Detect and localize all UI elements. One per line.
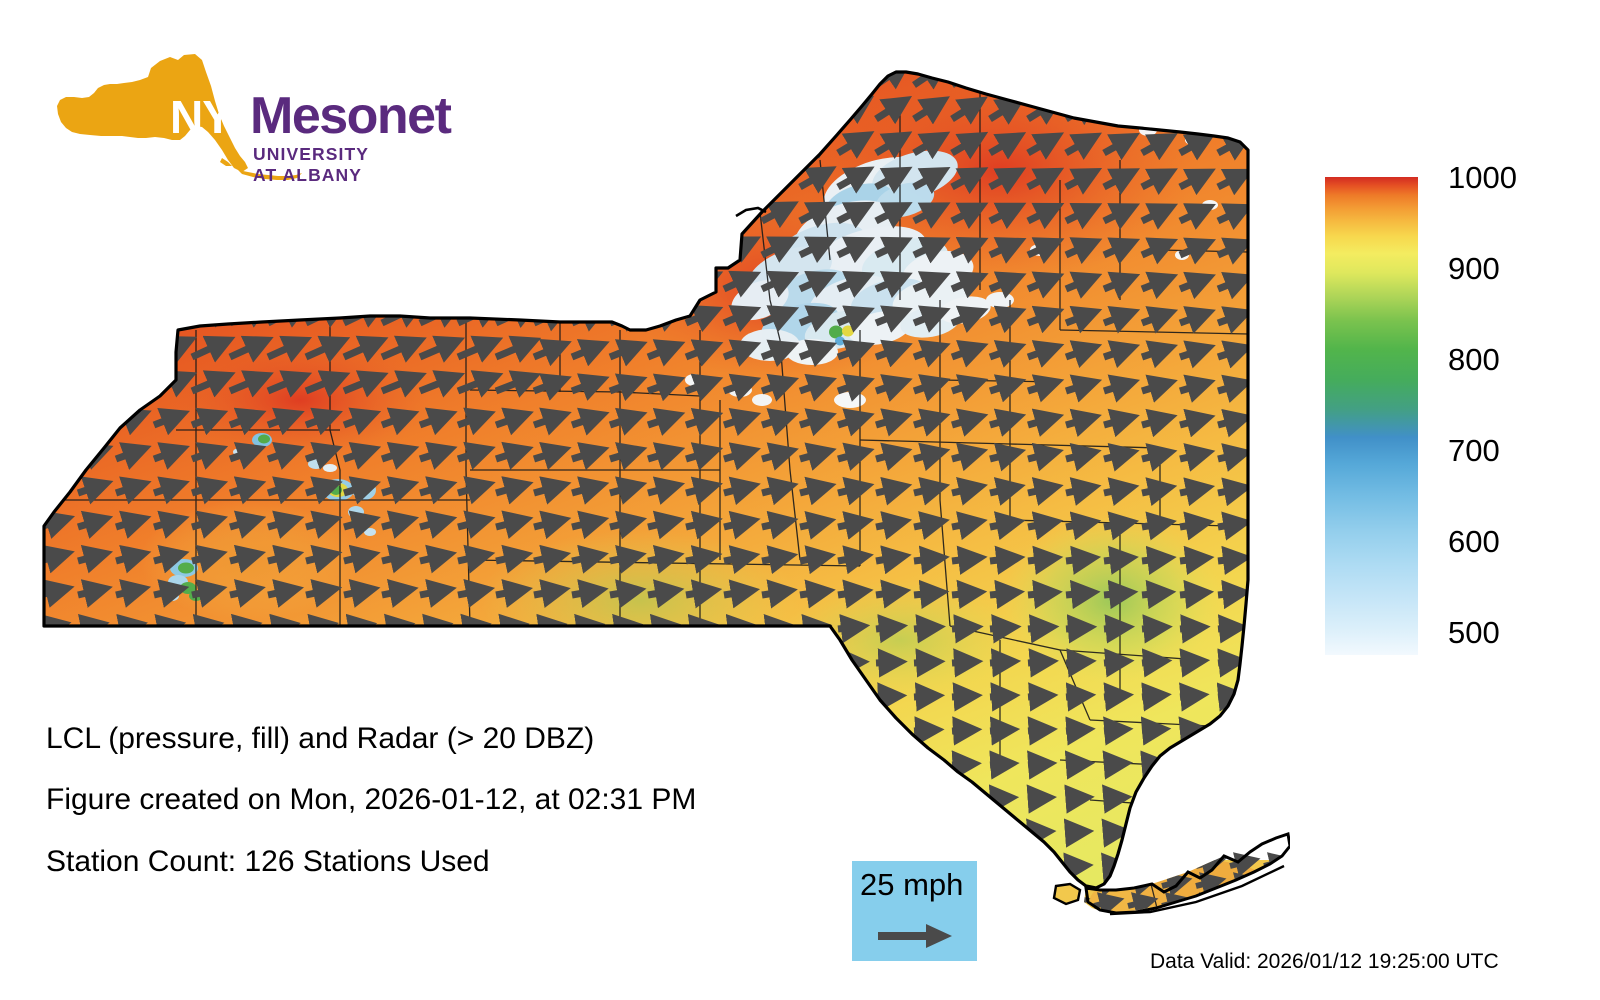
wind-arrow <box>1066 69 1090 85</box>
wind-arrow <box>990 764 1006 765</box>
wind-arrow <box>800 798 817 799</box>
wind-arrow <box>1142 696 1159 698</box>
wind-arrow <box>192 131 223 153</box>
wind-arrow <box>1256 661 1273 663</box>
wind-arrow <box>724 67 749 85</box>
wind-arrow <box>268 131 299 153</box>
wind-arrow <box>1104 69 1128 85</box>
wind-arrow <box>1066 730 1083 731</box>
wind-arrow <box>952 730 969 731</box>
wind-arrow <box>306 61 337 85</box>
wind-arrow <box>154 272 185 289</box>
caption-station-count: Station Count: 126 Stations Used <box>46 845 490 879</box>
wind-arrow <box>838 798 855 799</box>
wind-arrow <box>154 202 185 221</box>
wind-arrow <box>876 592 898 595</box>
wind-arrow <box>914 764 931 765</box>
wind-arrow <box>230 131 261 153</box>
wind-arrow <box>420 167 452 187</box>
wind-arrow <box>382 132 414 154</box>
wind-arrow <box>1180 105 1204 119</box>
wind-arrow <box>344 202 376 221</box>
wind-arrow <box>154 307 185 323</box>
data-valid-timestamp: Data Valid: 2026/01/12 19:25:00 UTC <box>1150 950 1499 974</box>
wind-arrow <box>686 172 711 187</box>
wind-arrow <box>306 765 324 766</box>
wind-arrow <box>116 131 146 153</box>
wind-arrow <box>1256 210 1280 221</box>
wind-arrow <box>230 202 261 221</box>
wind-arrow <box>306 697 325 698</box>
wind-arrow <box>306 167 338 187</box>
wind-arrow <box>724 591 747 595</box>
wind-arrow <box>1104 104 1128 119</box>
wind-arrow <box>572 277 598 289</box>
wind-arrow <box>876 832 892 833</box>
wind-arrow <box>192 167 223 188</box>
wind-arrow <box>78 272 109 289</box>
wind-arrow <box>800 522 823 527</box>
wind-arrow <box>610 67 635 85</box>
wind-arrow <box>914 558 937 561</box>
wind-arrow <box>1142 798 1157 799</box>
wind-arrow <box>952 696 970 697</box>
wind-arrow <box>990 628 1008 630</box>
wind-arrow <box>268 833 285 834</box>
wind-arrow <box>230 833 247 834</box>
wind-arrow <box>1142 488 1164 493</box>
wind-arrow <box>1104 488 1126 493</box>
wind-arrow <box>344 96 375 119</box>
wind-arrow <box>40 272 70 289</box>
wind-arrow <box>1142 628 1160 629</box>
wind-arrow <box>420 61 452 85</box>
wind-arrow <box>724 663 743 664</box>
wind-arrow <box>724 557 747 562</box>
wind-arrow <box>1142 523 1164 527</box>
wind-arrow <box>724 799 741 800</box>
wind-arrow <box>1256 140 1280 153</box>
wind-arrow <box>724 102 749 119</box>
wind-arrow <box>344 833 361 834</box>
wind-arrow <box>572 66 597 85</box>
wind-arrow <box>952 628 971 630</box>
wind-arrow <box>116 167 146 188</box>
wind-arrow <box>78 237 109 255</box>
wind-arrow <box>420 237 453 255</box>
wind-arrow <box>610 242 636 255</box>
wind-arrow <box>268 697 287 698</box>
wind-arrow <box>648 67 673 85</box>
wind-arrow <box>610 277 636 289</box>
wind-arrow <box>952 798 968 799</box>
wind-arrow <box>116 697 134 698</box>
wind-arrow <box>1066 593 1087 595</box>
wind-arrow <box>420 202 453 221</box>
wind-arrow <box>914 798 930 799</box>
wind-arrow <box>838 68 863 85</box>
wind-arrow <box>1180 489 1202 493</box>
wind-arrow <box>306 237 338 255</box>
wind-arrow <box>1142 70 1166 85</box>
wind-arrow <box>1180 730 1196 732</box>
wind-arrow <box>990 558 1012 561</box>
wind-arrow <box>268 167 299 187</box>
wind-arrow <box>762 696 781 697</box>
wind-arrow <box>1104 730 1120 731</box>
wind-arrow <box>1230 901 1249 906</box>
wind-arrow <box>800 866 816 867</box>
wind-arrow <box>876 730 894 731</box>
staten-island-outline <box>1054 884 1080 904</box>
wind-arrow <box>1066 832 1081 833</box>
wind-arrow <box>1066 764 1082 765</box>
wind-arrow <box>1256 593 1277 595</box>
wind-arrow <box>192 663 211 664</box>
wind-arrow <box>1066 558 1088 561</box>
wind-arrow <box>78 765 95 766</box>
wind-arrow <box>344 590 367 595</box>
wind-arrow <box>1028 696 1045 697</box>
wind-arrow <box>1028 488 1051 493</box>
wind-arrow <box>724 697 743 698</box>
wind-arrow <box>952 593 974 595</box>
wind-arrow <box>610 207 636 221</box>
wind-arrow <box>1028 558 1050 561</box>
wind-arrow <box>116 765 133 766</box>
wind-arrow <box>1180 661 1197 663</box>
wind-arrow <box>1256 628 1273 629</box>
wind-arrow <box>1218 730 1234 732</box>
colorbar-tick-500: 500 <box>1448 617 1500 648</box>
wind-arrow <box>268 202 300 221</box>
wind-arrow <box>534 136 560 153</box>
wind-arrow <box>724 172 749 187</box>
wind-arrow <box>1028 593 1050 595</box>
wind-arrow <box>78 833 94 834</box>
wind-arrow <box>40 485 63 493</box>
wind-arrow <box>154 590 176 595</box>
wind-arrow <box>78 61 107 85</box>
wind-arrow <box>192 272 223 289</box>
wind-arrow <box>78 131 108 153</box>
wind-arrow <box>40 377 70 391</box>
wind-arrow <box>800 730 818 731</box>
wind-arrow <box>572 102 598 120</box>
wind-arrow <box>610 556 634 561</box>
wind-arrow <box>40 307 70 323</box>
wind-arrow <box>382 61 413 85</box>
wind-arrow <box>382 202 414 221</box>
wind-arrow <box>838 627 857 629</box>
wind-arrow <box>762 68 787 86</box>
wind-arrow <box>952 832 968 833</box>
wind-arrow <box>724 765 742 766</box>
wind-arrow <box>192 697 211 698</box>
wind-arrow <box>1180 696 1196 698</box>
wind-arrow <box>800 103 825 119</box>
wind-arrow <box>420 132 452 154</box>
wind-arrow <box>762 103 787 120</box>
wind-arrow <box>1142 559 1164 562</box>
wind-arrow <box>116 307 147 323</box>
wind-arrow <box>78 378 109 392</box>
wind-arrow <box>1256 350 1279 357</box>
wind-arrow <box>192 765 210 766</box>
wind-arrow <box>952 764 969 765</box>
wind-arrow <box>1142 593 1163 595</box>
wind-arrow <box>458 273 491 290</box>
wind-arrow <box>1256 384 1279 391</box>
wind-arrow <box>230 272 262 289</box>
caption-created-time: Figure created on Mon, 2026-01-12, at 02… <box>46 783 696 817</box>
wind-arrow <box>572 207 598 221</box>
wind-arrow <box>1128 861 1147 866</box>
wind-arrow <box>648 556 672 561</box>
wind-arrow <box>1180 866 1194 867</box>
wind-arrow <box>230 663 249 664</box>
wind-arrow <box>1142 662 1159 664</box>
wind-arrow <box>496 591 520 596</box>
wind-arrow <box>1218 628 1235 629</box>
wind-arrow <box>496 61 528 85</box>
wind-arrow <box>686 67 711 85</box>
wind-arrow <box>230 237 262 255</box>
wind-arrow <box>572 172 598 187</box>
wind-arrow <box>762 173 787 187</box>
wind-arrow <box>1142 105 1166 119</box>
wind-arrow <box>382 167 414 187</box>
wind-arrow <box>648 277 673 289</box>
wind-arrow <box>268 590 291 595</box>
wind-arrow <box>1066 523 1088 527</box>
wind-arrow <box>154 131 184 153</box>
wind-arrow <box>1028 866 1043 867</box>
wind-arrow <box>1028 764 1044 765</box>
wind-arrow <box>116 833 132 834</box>
wind-arrow <box>800 696 818 697</box>
wind-arrow <box>534 206 560 221</box>
wind-arrow <box>648 102 673 119</box>
wind-arrow <box>268 61 299 85</box>
wind-arrow <box>78 342 109 357</box>
wind-arrow <box>1256 245 1280 255</box>
wind-arrow <box>990 662 1008 663</box>
wind-arrow <box>40 96 69 119</box>
wind-arrow <box>1218 105 1242 119</box>
wind-arrow <box>1256 70 1280 85</box>
wind-arrow <box>306 202 338 221</box>
wind-arrow <box>1104 593 1125 595</box>
wind-arrow <box>116 272 147 289</box>
wind-arrow <box>686 207 711 221</box>
wind-arrow <box>1218 523 1240 527</box>
wind-arrow <box>800 832 816 833</box>
wind-arrow <box>1142 866 1156 867</box>
wind-arrow <box>914 628 933 630</box>
colorbar-tick-1000: 1000 <box>1448 162 1517 193</box>
wind-arrow <box>1104 662 1121 663</box>
wind-arrow <box>1218 454 1240 459</box>
wind-arrow <box>1104 866 1118 867</box>
wind-arrow <box>154 765 171 766</box>
wind-arrow <box>230 765 248 766</box>
wind-arrow <box>990 593 1012 595</box>
wind-arrow <box>154 663 173 664</box>
wind-arrow <box>1256 832 1270 834</box>
wind-arrow <box>458 132 490 154</box>
wind-arrow <box>1256 315 1279 323</box>
wind-arrow <box>800 68 825 85</box>
wind-arrow <box>1162 861 1181 866</box>
wind-arrow <box>1142 832 1157 833</box>
wind-arrow <box>914 593 936 595</box>
wind-arrow <box>420 272 453 289</box>
wind-arrow <box>762 591 785 595</box>
wind-arrow <box>914 730 931 731</box>
wind-arrow <box>952 558 974 561</box>
wind-arrow <box>1256 489 1278 493</box>
wind-arrow <box>762 798 779 799</box>
wind-arrow <box>1256 798 1271 800</box>
wind-arrow <box>686 102 711 119</box>
wind-arrow <box>1264 901 1283 906</box>
wind-arrow <box>648 137 673 153</box>
wind-arrow <box>1256 559 1277 562</box>
wind-arrow <box>306 833 323 834</box>
wind-arrow <box>686 591 709 595</box>
wind-arrow <box>610 591 633 595</box>
wind-arrow <box>344 697 363 698</box>
wind-arrow <box>230 590 253 595</box>
wind-arrow <box>344 167 376 187</box>
wind-arrow <box>648 207 674 221</box>
wind-arrow <box>78 202 108 221</box>
wind-arrow <box>306 590 329 595</box>
wind-arrow <box>344 272 376 289</box>
wind-arrow <box>496 96 528 119</box>
wind-arrow <box>800 557 823 561</box>
wind-arrow <box>40 202 70 221</box>
wind-arrow <box>268 663 288 664</box>
wind-arrow <box>952 523 975 528</box>
wind-arrow <box>268 765 286 766</box>
wind-arrow <box>382 272 415 289</box>
wind-arrow <box>382 237 414 255</box>
wind-arrow <box>952 69 977 85</box>
wind-arrow <box>496 202 529 221</box>
wind-arrow <box>1256 175 1280 187</box>
wind-arrow <box>40 166 70 187</box>
wind-arrow <box>1218 764 1233 766</box>
wind-arrow <box>952 662 970 663</box>
wind-arrow <box>1218 559 1239 562</box>
wind-arrow <box>1218 832 1232 833</box>
wind-arrow <box>800 764 817 765</box>
wind-arrow <box>686 277 711 289</box>
wind-arrow <box>1066 662 1084 663</box>
wind-arrow <box>686 556 709 561</box>
wind-arrow <box>40 342 71 357</box>
wind-arrow <box>344 663 364 664</box>
wind-arrow <box>1180 764 1195 765</box>
wind-arrow <box>762 764 780 765</box>
wind-arrow <box>990 696 1007 697</box>
wind-key-label: 25 mph <box>860 867 963 903</box>
wind-arrow <box>40 450 63 459</box>
wind-speed-reference-key: 25 mph <box>852 861 977 961</box>
wind-arrow <box>1218 798 1233 799</box>
wind-arrow <box>724 833 741 834</box>
wind-arrow <box>1180 70 1204 85</box>
wind-arrow <box>610 172 636 187</box>
wind-arrow <box>1218 661 1235 663</box>
wind-arrow <box>762 833 779 834</box>
wind-arrow <box>230 167 261 187</box>
wind-arrow <box>458 167 491 187</box>
wind-arrow <box>914 522 937 527</box>
wind-arrow <box>306 272 338 289</box>
wind-arrow <box>1256 695 1272 697</box>
wind-arrow <box>1180 593 1201 595</box>
wind-arrow <box>1256 454 1278 459</box>
wind-arrow <box>534 591 558 595</box>
wind-arrow <box>1104 798 1119 799</box>
colorbar-tick-600: 600 <box>1448 526 1500 557</box>
wind-key-arrow-icon <box>878 921 954 951</box>
wind-arrow <box>344 131 376 153</box>
wind-arrow <box>78 96 108 119</box>
wind-arrow <box>306 131 337 153</box>
wind-arrow <box>762 138 787 153</box>
caption-title: LCL (pressure, fill) and Radar (> 20 DBZ… <box>46 722 594 756</box>
wind-arrow <box>116 342 147 357</box>
wind-arrow <box>40 663 58 664</box>
wind-arrow <box>838 557 861 561</box>
wind-arrow <box>1180 798 1195 799</box>
wind-arrow <box>1180 559 1201 562</box>
wind-arrow <box>458 202 491 221</box>
wind-arrow <box>990 832 1005 833</box>
wind-arrow <box>420 590 444 595</box>
wind-arrow <box>990 730 1007 731</box>
wind-arrow <box>192 202 223 221</box>
wind-arrow <box>116 378 147 392</box>
wind-arrow <box>1180 523 1202 527</box>
wind-arrow <box>306 96 337 119</box>
wind-arrow <box>610 102 635 119</box>
wind-arrow <box>496 238 529 256</box>
wind-arrow <box>990 523 1013 527</box>
colorbar-tick-700: 700 <box>1448 435 1500 466</box>
wind-arrow <box>458 590 482 595</box>
wind-arrow <box>1104 764 1120 765</box>
wind-arrow <box>876 522 899 527</box>
wind-arrow <box>192 61 222 85</box>
wind-arrow <box>192 96 222 119</box>
wind-arrow <box>40 61 69 85</box>
wind-arrow <box>78 663 97 664</box>
wind-arrow <box>534 171 560 187</box>
wind-arrow <box>344 237 376 255</box>
wind-arrow <box>382 590 406 595</box>
wind-arrow <box>78 166 108 187</box>
wind-arrow <box>1104 628 1122 629</box>
wind-arrow <box>40 697 58 698</box>
wind-arrow <box>838 592 860 595</box>
wind-arrow <box>1256 419 1278 425</box>
wind-arrow <box>1142 730 1158 731</box>
